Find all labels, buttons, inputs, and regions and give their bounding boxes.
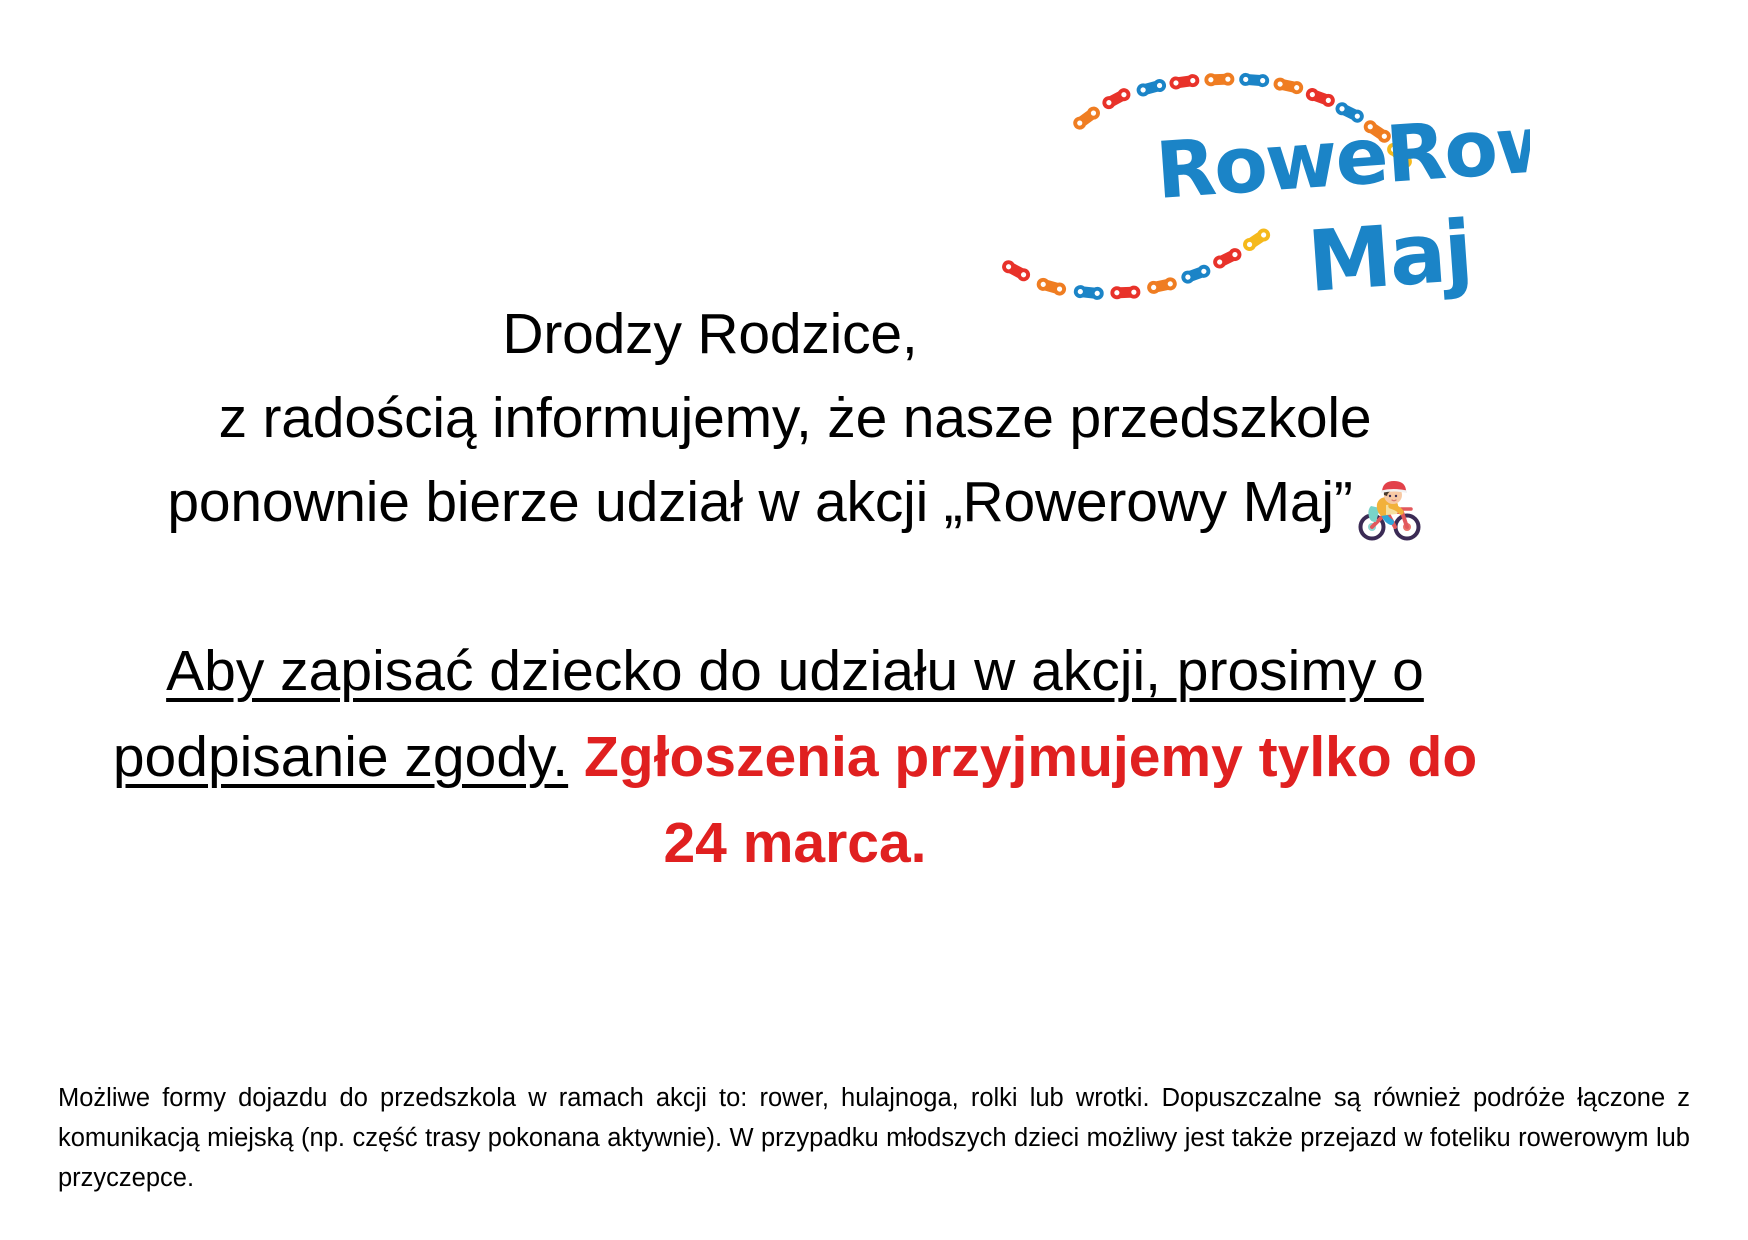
intro-line-2-text: ponownie bierze udział w akcji „Rowerowy… (167, 470, 1352, 534)
logo-word-top: RoweRowy (1153, 95, 1530, 217)
underlined-instruction-part-1: Aby zapisać dziecko do udziału w akcji, … (166, 639, 1424, 703)
chain-arc-bottom (1000, 226, 1273, 301)
footnote-paragraph: Możliwe formy dojazdu do przedszkola w r… (58, 1078, 1690, 1198)
underlined-instruction-part-2: podpisanie zgody. (113, 725, 568, 789)
emphasis-block: Aby zapisać dziecko do udziału w akcji, … (60, 628, 1530, 886)
intro-line-2: ponownie bierze udział w akcji „Rowerowy… (60, 460, 1530, 544)
greeting-line: Drodzy Rodzice, (0, 292, 1530, 376)
deadline-date: 24 marca. (663, 811, 926, 875)
emphasis-line-1: Aby zapisać dziecko do udziału w akcji, … (60, 628, 1530, 714)
rowerowy-maj-logo: RoweRowy Maj (1000, 48, 1530, 313)
main-message: Drodzy Rodzice, z radością informujemy, … (60, 292, 1530, 544)
intro-line-1: z radością informujemy, że nasze przedsz… (60, 376, 1530, 460)
deadline-text-part-1: Zgłoszenia przyjmujemy tylko do (584, 725, 1477, 789)
emphasis-line-3: 24 marca. (60, 800, 1530, 886)
child-on-bicycle-emoji (1355, 479, 1423, 541)
emphasis-line-2: podpisanie zgody. Zgłoszenia przyjmujemy… (60, 714, 1530, 800)
